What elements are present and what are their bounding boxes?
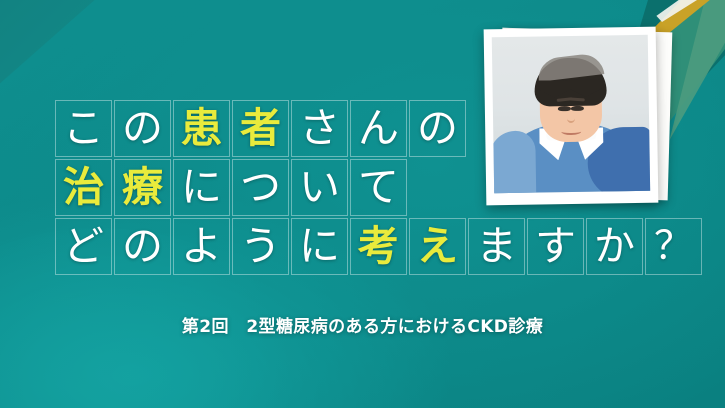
headline-char-cell-highlight: 治 [55, 159, 112, 216]
headline-char-cell: ま [468, 218, 525, 275]
headline-char-cell: ん [350, 100, 407, 157]
headline-char-cell: よ [173, 218, 230, 275]
portrait-nose [567, 114, 575, 123]
headline-char-cell-highlight: 患 [173, 100, 230, 157]
headline-char-cell-question-mark: ？ [645, 218, 702, 275]
headline-char-cell: に [291, 218, 348, 275]
headline-char-cell: さ [291, 100, 348, 157]
headline-char-cell-highlight: 療 [114, 159, 171, 216]
headline-char-cell-highlight: 者 [232, 100, 289, 157]
headline-char-cell: つ [232, 159, 289, 216]
patient-portrait-illustration [492, 35, 650, 193]
headline-char-cell: に [173, 159, 230, 216]
headline-char-cell: ど [55, 218, 112, 275]
portrait-eye-right [571, 106, 584, 111]
headline-char-cell: か [586, 218, 643, 275]
headline-char-cell-highlight: え [409, 218, 466, 275]
headline-char-cell: の [114, 218, 171, 275]
portrait-sweater-highlight [492, 131, 537, 194]
patient-photo [484, 26, 674, 206]
headline-char-cell: す [527, 218, 584, 275]
portrait-eye-left [558, 106, 571, 111]
headline-char-cell-highlight: 考 [350, 218, 407, 275]
headline-line-3: ど の よ う に 考 え ま す か ？ [55, 218, 702, 275]
headline-char-cell: い [291, 159, 348, 216]
photo-frame-front [484, 27, 659, 206]
title-slide: こ の 患 者 さ ん の 治 療 に つ い て ど の よ う に 考 え … [0, 0, 725, 408]
headline-char-cell: の [114, 100, 171, 157]
episode-subtitle: 第2回 2型糖尿病のある方におけるCKD診療 [0, 312, 725, 337]
headline-char-cell: こ [55, 100, 112, 157]
headline-char-cell: う [232, 218, 289, 275]
headline-char-cell: の [409, 100, 466, 157]
headline-char-cell: て [350, 159, 407, 216]
